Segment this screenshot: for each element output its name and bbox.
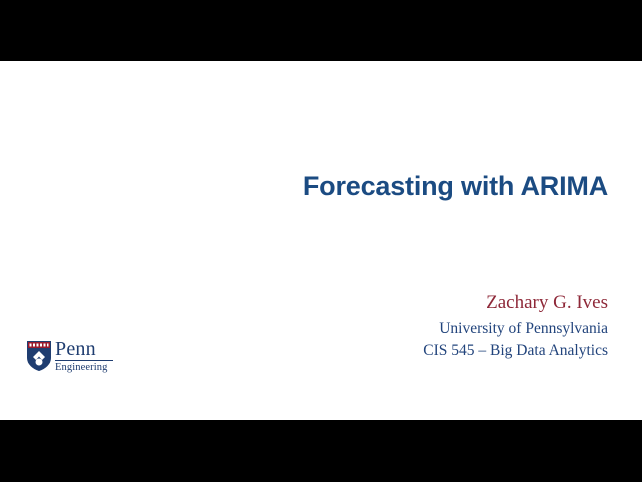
video-player-viewport: Forecasting with ARIMA Zachary G. Ives U… (0, 0, 642, 482)
penn-wordmark-secondary: Engineering (55, 362, 107, 373)
page-title: Forecasting with ARIMA (48, 173, 608, 200)
penn-wordmark-divider (55, 360, 113, 361)
letterbox-bar-bottom (0, 420, 642, 482)
author-block: Zachary G. Ives University of Pennsylvan… (88, 292, 608, 362)
penn-wordmark-primary: Penn (55, 340, 96, 358)
penn-engineering-logo: Penn Engineering (27, 340, 122, 376)
penn-shield-icon (27, 341, 51, 371)
presentation-slide: Forecasting with ARIMA Zachary G. Ives U… (0, 61, 642, 420)
author-name: Zachary G. Ives (88, 292, 608, 314)
author-course: CIS 545 – Big Data Analytics (88, 340, 608, 362)
author-affiliation: University of Pennsylvania (88, 318, 608, 340)
letterbox-bar-top (0, 0, 642, 61)
penn-wordmark: Penn Engineering (55, 340, 113, 373)
